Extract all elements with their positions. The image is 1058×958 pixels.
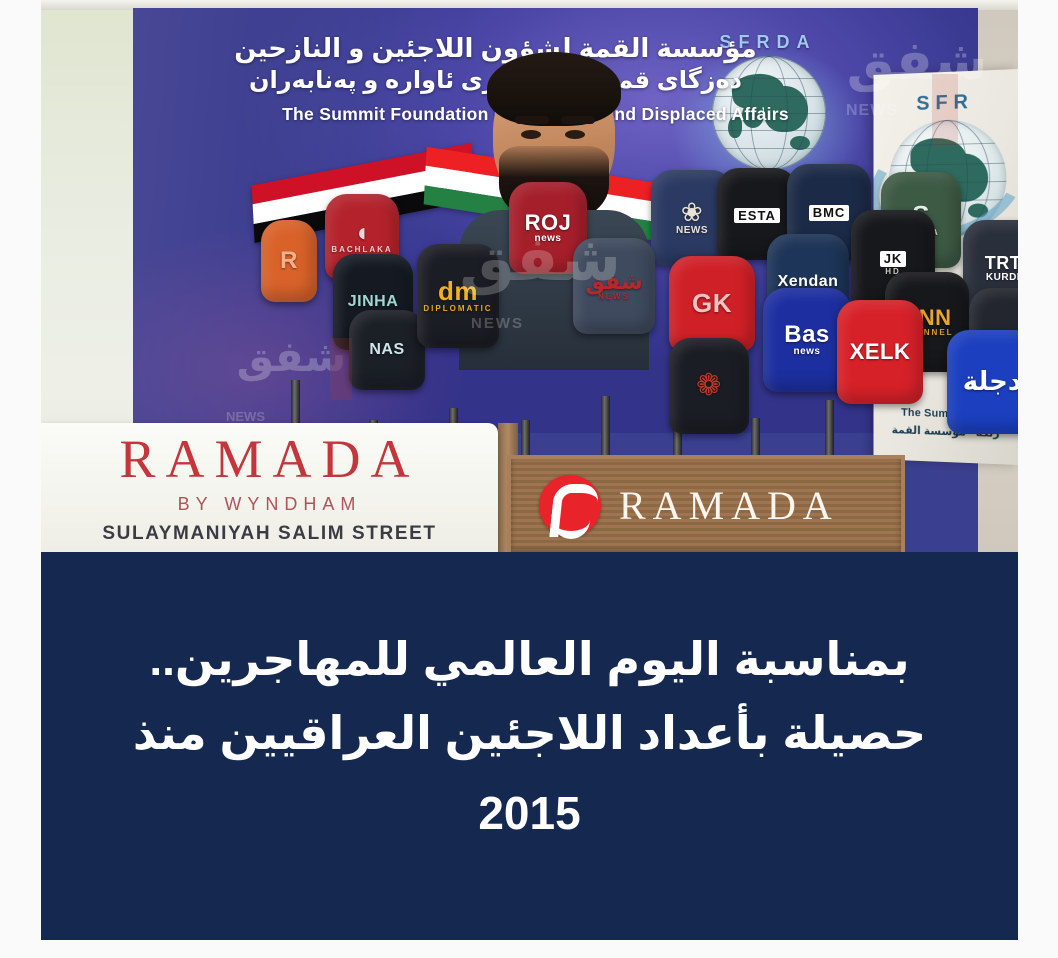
microphone-label: دجلة <box>961 366 1018 397</box>
microphone-nas: NAS <box>349 310 425 390</box>
microphone-label: ROJnews <box>523 209 574 247</box>
wall-sign-byline: BY WYNDHAM <box>178 494 362 515</box>
podium-ramada-sign: RAMADA <box>507 455 905 552</box>
ramada-logo-icon <box>539 475 601 537</box>
microphone-label: GK <box>690 288 734 319</box>
microphone-label: NAS <box>367 340 406 361</box>
news-photo: مؤسسة القمة لشؤون اللاجئين و النازحين دە… <box>41 0 1018 552</box>
headline-card: بمناسبة اليوم العالمي للمهاجرين.. حصيلة … <box>41 552 1018 940</box>
microphone-rudaw: R <box>261 220 317 302</box>
microphone-label: R <box>278 246 300 275</box>
microphone-label: dmDIPLOMATIC <box>421 276 494 316</box>
microphone-tulip-tv: ❁ <box>669 338 749 434</box>
microphone-dm-diplomatic: dmDIPLOMATIC <box>417 244 499 348</box>
wall-sign-brand: RAMADA <box>119 431 419 488</box>
article-card-page: مؤسسة القمة لشؤون اللاجئين و النازحين دە… <box>0 0 1058 958</box>
speaker-hair <box>487 52 621 126</box>
microphone-label: ❀NEWS <box>674 197 710 239</box>
wall-sign-address: SULAYMANIYAH SALIM STREET <box>102 523 436 545</box>
microphone-label: ❁ <box>694 368 724 404</box>
microphone-dijla: دجلة <box>947 330 1018 434</box>
rollup-acronym: SFR <box>873 89 1018 117</box>
globe-icon <box>712 56 826 170</box>
podium-brand-text: RAMADA <box>619 482 839 529</box>
microphone-label: XELK <box>848 338 913 365</box>
microphone-label: ◖BACHLAKA <box>329 217 394 257</box>
headline-line-1: بمناسبة اليوم العالمي للمهاجرين.. <box>149 622 909 697</box>
microphone-xelk: XELK <box>837 300 923 404</box>
emblem-acronym: SFRDA <box>678 32 858 53</box>
microphone-label: Basnews <box>782 320 832 360</box>
wall-ramada-sign: RAMADA BY WYNDHAM SULAYMANIYAH SALIM STR… <box>41 423 498 552</box>
microphone-label: BMC <box>807 200 852 224</box>
microphone-label: TRTKURDI <box>983 252 1018 285</box>
microphone-label: ESTA <box>732 203 782 226</box>
microphone-shafaq-news: شفقNEWS <box>573 238 655 334</box>
microphone-label: شفقNEWS <box>583 268 644 303</box>
headline-line-2: حصيلة بأعداد اللاجئين العراقيين منذ <box>133 696 926 771</box>
headline-year: 2015 <box>478 777 580 851</box>
